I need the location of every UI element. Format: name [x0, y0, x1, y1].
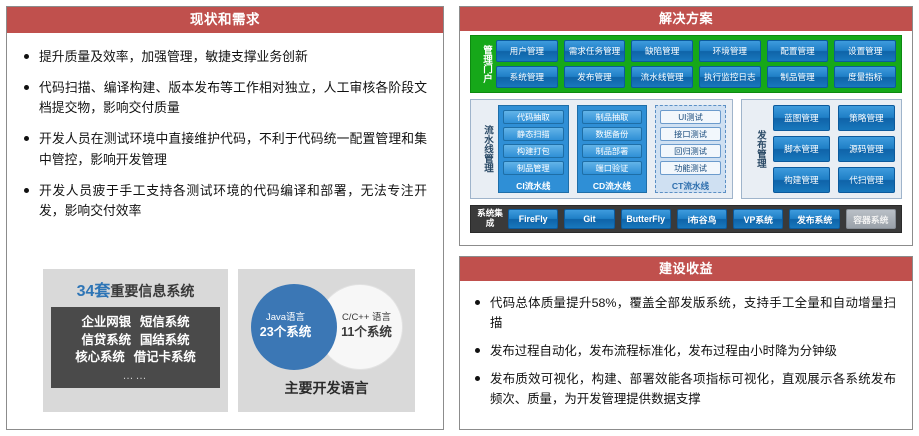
system-name: 企业网银: [81, 314, 131, 332]
list-item: 开发人员在测试环境中直接维护代码，不利于代码统一配置管理和集中管控，影响开发管理: [21, 129, 427, 170]
integration-item[interactable]: 发布系统: [789, 209, 839, 229]
list-item: 代码扫描、编译构建、版本发布等工作相对独立，人工审核各阶段文档提交物，影响交付质…: [21, 78, 427, 119]
pipeline-and-release-row: 流水线管理 代码抽取 静态扫描 构建打包 制品管理 CI流水线 制品抽取 数据备…: [470, 99, 902, 199]
panel-current-situation-title: 现状和需求: [7, 7, 443, 33]
list-item: 提升质量及效率，加强管理，敏捷支撑业务创新: [21, 47, 427, 68]
system-integration-label: 系统集成: [477, 209, 503, 228]
portal-button[interactable]: 缺陷管理: [631, 40, 693, 62]
release-button[interactable]: 脚本管理: [773, 136, 830, 162]
integration-item[interactable]: VP系统: [733, 209, 783, 229]
pipeline-column-ct: UI测试 接口测试 回归测试 功能测试 CT流水线: [655, 105, 726, 193]
management-portal-band: 管理门户 用户管理 需求任务管理 缺陷管理 环境管理 配置管理 设置管理 系统管…: [470, 35, 902, 93]
panel-solution-title: 解决方案: [460, 7, 912, 31]
system-integration-band: 系统集成 FireFly Git ButterFly i布谷鸟 VP系统 发布系…: [470, 205, 902, 233]
release-management-buttons: 蓝图管理 策略管理 脚本管理 源码管理 构建管理 代扫管理: [773, 105, 895, 193]
release-button[interactable]: 蓝图管理: [773, 105, 830, 131]
portal-button[interactable]: 配置管理: [767, 40, 829, 62]
pipeline-step[interactable]: UI测试: [660, 110, 721, 124]
pipeline-step[interactable]: 数据备份: [582, 127, 643, 141]
portal-button[interactable]: 环境管理: [699, 40, 761, 62]
system-name: 核心系统: [75, 349, 125, 367]
system-name: 借记卡系统: [134, 349, 196, 367]
integration-item[interactable]: ButterFly: [621, 209, 671, 229]
system-row: 企业网银 短信系统: [55, 314, 216, 332]
management-portal-buttons: 用户管理 需求任务管理 缺陷管理 环境管理 配置管理 设置管理 系统管理 发布管…: [496, 40, 896, 88]
management-portal-label: 管理门户: [478, 45, 491, 83]
portal-button[interactable]: 制品管理: [767, 66, 829, 88]
venn-diagram: Java语言 23个系统 C/C++ 语言 11个系统: [251, 284, 403, 370]
pipeline-step[interactable]: 功能测试: [660, 161, 721, 175]
integration-item[interactable]: Git: [564, 209, 614, 229]
pipeline-management-band: 流水线管理 代码抽取 静态扫描 构建打包 制品管理 CI流水线 制品抽取 数据备…: [470, 99, 733, 199]
pipeline-column-ci: 代码抽取 静态扫描 构建打包 制品管理 CI流水线: [498, 105, 569, 193]
panel-current-situation-body: 提升质量及效率，加强管理，敏捷支撑业务创新 代码扫描、编译构建、版本发布等工作相…: [7, 33, 443, 222]
important-systems-title: 34套重要信息系统: [51, 277, 220, 301]
pipeline-step[interactable]: 制品管理: [503, 161, 564, 175]
language-venn-card: Java语言 23个系统 C/C++ 语言 11个系统 主要开发语言: [238, 269, 415, 412]
release-management-band: 发布管理 蓝图管理 策略管理 脚本管理 源码管理 构建管理 代扫管理: [741, 99, 902, 199]
pipeline-step[interactable]: 制品抽取: [582, 110, 643, 124]
system-row: 核心系统 借记卡系统: [55, 349, 216, 367]
system-list-ellipsis: ……: [55, 370, 216, 382]
pipeline-step[interactable]: 静态扫描: [503, 127, 564, 141]
portal-button[interactable]: 需求任务管理: [564, 40, 626, 62]
panel-current-situation: 现状和需求 提升质量及效率，加强管理，敏捷支撑业务创新 代码扫描、编译构建、版本…: [6, 6, 444, 430]
release-button[interactable]: 源码管理: [838, 136, 895, 162]
system-name: 短信系统: [140, 314, 190, 332]
pipeline-column-caption: CD流水线: [582, 178, 643, 192]
pipeline-management-label: 流水线管理: [479, 125, 492, 173]
pipeline-step[interactable]: 接口测试: [660, 127, 721, 141]
system-name: 信贷系统: [81, 332, 131, 350]
pipeline-columns: 代码抽取 静态扫描 构建打包 制品管理 CI流水线 制品抽取 数据备份 制品部署…: [498, 105, 726, 193]
list-item: 发布过程自动化，发布流程标准化，发布过程由小时降为分钟级: [472, 341, 896, 361]
panel-benefits: 建设收益 代码总体质量提升58%，覆盖全部发版系统，支持手工全量和自动增量扫描 …: [459, 256, 913, 430]
integration-item[interactable]: i布谷鸟: [677, 209, 727, 229]
portal-button[interactable]: 用户管理: [496, 40, 558, 62]
portal-button[interactable]: 流水线管理: [631, 66, 693, 88]
pipeline-column-caption: CI流水线: [503, 178, 564, 192]
release-button[interactable]: 代扫管理: [838, 167, 895, 193]
list-item: 开发人员疲于手工支持各测试环境的代码编译和部署，无法专注开发，影响交付效率: [21, 181, 427, 222]
important-systems-count: 34套: [77, 283, 111, 300]
system-name-box: 企业网银 短信系统 信贷系统 国结系统 核心系统 借记卡系统 ……: [51, 307, 220, 388]
pipeline-column-caption: CT流水线: [660, 178, 721, 192]
release-button[interactable]: 构建管理: [773, 167, 830, 193]
list-item: 代码总体质量提升58%，覆盖全部发版系统，支持手工全量和自动增量扫描: [472, 293, 896, 333]
slide-canvas: 现状和需求 提升质量及效率，加强管理，敏捷支撑业务创新 代码扫描、编译构建、版本…: [0, 0, 919, 436]
systems-infographic: 34套重要信息系统 企业网银 短信系统 信贷系统 国结系统 核心系统 借记卡系统: [43, 269, 415, 412]
venn-java-label: Java语言: [266, 312, 305, 324]
panel-solution: 解决方案 管理门户 用户管理 需求任务管理 缺陷管理 环境管理 配置管理 设置管…: [459, 6, 913, 246]
pipeline-step[interactable]: 代码抽取: [503, 110, 564, 124]
venn-java-value: 23个系统: [260, 324, 311, 340]
pipeline-column-cd: 制品抽取 数据备份 制品部署 端口验证 CD流水线: [577, 105, 648, 193]
system-name: 国结系统: [140, 332, 190, 350]
venn-caption: 主要开发语言: [285, 378, 369, 398]
venn-circle-java: Java语言 23个系统: [251, 284, 337, 370]
release-management-label: 发布管理: [752, 130, 765, 168]
portal-button[interactable]: 执行监控日志: [699, 66, 761, 88]
integration-item[interactable]: FireFly: [508, 209, 558, 229]
portal-button[interactable]: 度量指标: [834, 66, 896, 88]
pipeline-step[interactable]: 制品部署: [582, 144, 643, 158]
list-item: 发布质效可视化，构建、部署效能各项指标可视化，直观展示各系统发布频次、质量，为开…: [472, 369, 896, 409]
current-situation-bullet-list: 提升质量及效率，加强管理，敏捷支撑业务创新 代码扫描、编译构建、版本发布等工作相…: [21, 47, 427, 222]
panel-benefits-title: 建设收益: [460, 257, 912, 281]
pipeline-step[interactable]: 端口验证: [582, 161, 643, 175]
venn-cpp-value: 11个系统: [341, 324, 392, 340]
system-row: 信贷系统 国结系统: [55, 332, 216, 350]
benefits-bullet-list: 代码总体质量提升58%，覆盖全部发版系统，支持手工全量和自动增量扫描 发布过程自…: [472, 293, 896, 409]
integration-item[interactable]: 容器系统: [846, 209, 896, 229]
portal-button[interactable]: 设置管理: [834, 40, 896, 62]
important-systems-card: 34套重要信息系统 企业网银 短信系统 信贷系统 国结系统 核心系统 借记卡系统: [43, 269, 228, 412]
pipeline-step[interactable]: 回归测试: [660, 144, 721, 158]
portal-button[interactable]: 系统管理: [496, 66, 558, 88]
venn-cpp-label: C/C++ 语言: [342, 312, 391, 324]
portal-button[interactable]: 发布管理: [564, 66, 626, 88]
system-integration-items: FireFly Git ButterFly i布谷鸟 VP系统 发布系统 容器系…: [508, 209, 896, 229]
solution-architecture-diagram: 管理门户 用户管理 需求任务管理 缺陷管理 环境管理 配置管理 设置管理 系统管…: [470, 35, 902, 239]
release-button[interactable]: 策略管理: [838, 105, 895, 131]
important-systems-title-rest: 重要信息系统: [110, 283, 194, 299]
pipeline-step[interactable]: 构建打包: [503, 144, 564, 158]
panel-benefits-body: 代码总体质量提升58%，覆盖全部发版系统，支持手工全量和自动增量扫描 发布过程自…: [460, 281, 912, 409]
